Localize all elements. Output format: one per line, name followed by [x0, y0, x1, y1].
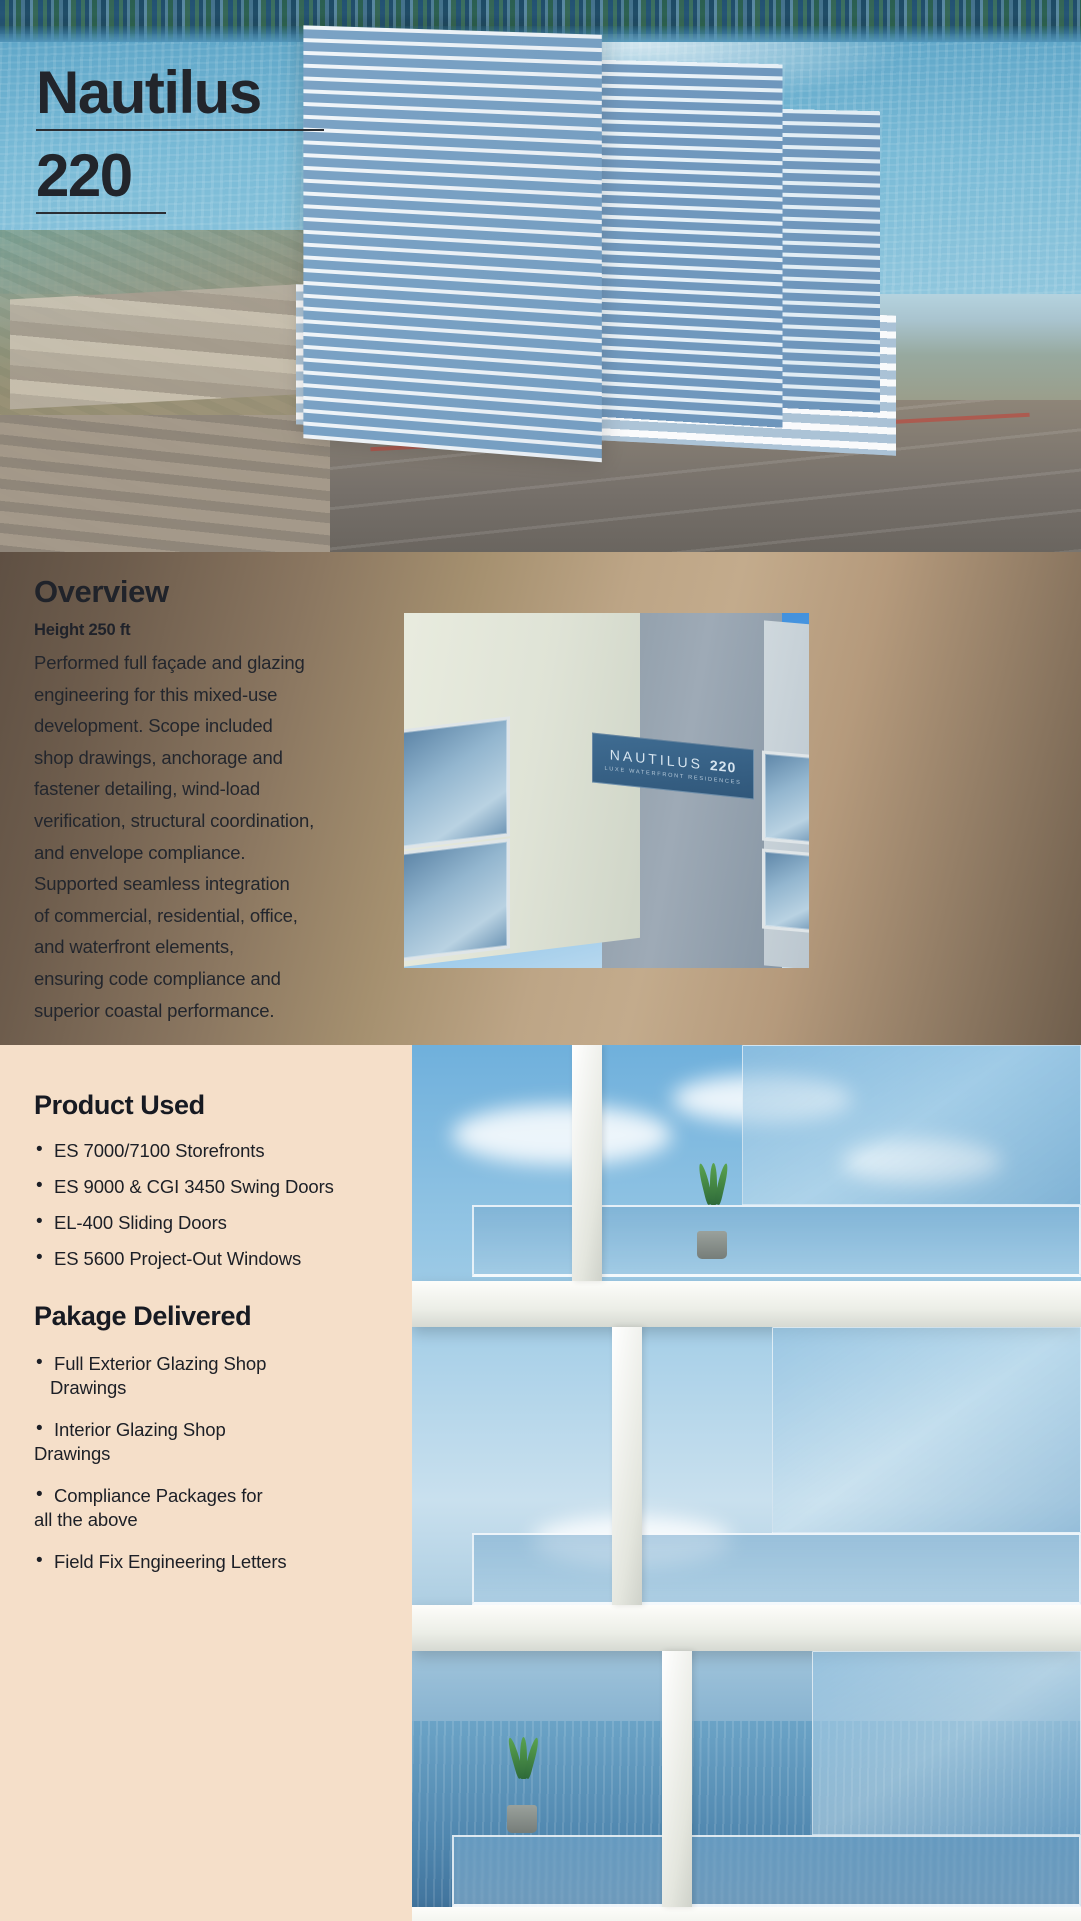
product-used-heading: Product Used: [34, 1090, 390, 1121]
glass-panel: [742, 1045, 1081, 1205]
glass-railing: [452, 1835, 1081, 1907]
list-item: EL-400 Sliding Doors: [34, 1211, 390, 1235]
list-item: Full Exterior Glazing Shop Drawings: [34, 1352, 390, 1400]
balcony-photo: [412, 1045, 1081, 1921]
facade-window: [404, 838, 510, 962]
list-item: ES 9000 & CGI 3450 Swing Doors: [34, 1175, 390, 1199]
hero-title: Nautilus 220: [36, 62, 376, 214]
list-item-line-1: Interior Glazing Shop: [54, 1419, 226, 1440]
glass-panel: [812, 1651, 1081, 1835]
hero-section: Nautilus 220: [0, 0, 1081, 552]
package-delivered-heading: Pakage Delivered: [34, 1301, 390, 1332]
facade-window: [762, 750, 809, 845]
facade-window: [762, 848, 809, 933]
balcony-slab: [412, 1605, 1081, 1651]
overview-height-label: Height 250 ft: [34, 621, 384, 640]
balcony-slab: [412, 1907, 1081, 1921]
list-item: Field Fix Engineering Letters: [34, 1550, 390, 1574]
glass-railing: [472, 1533, 1081, 1605]
overview-body-text: Performed full façade and glazing engine…: [34, 647, 384, 1026]
list-item-line-2: Drawings: [34, 1442, 390, 1466]
glass-railing: [472, 1205, 1081, 1277]
plant-pot: [697, 1231, 727, 1259]
overview-text-block: Overview Height 250 ft Performed full fa…: [34, 574, 384, 1026]
package-delivered-list: Full Exterior Glazing Shop Drawings Inte…: [34, 1352, 390, 1574]
balcony-column: [662, 1651, 692, 1907]
product-used-list: ES 7000/7100 Storefronts ES 9000 & CGI 3…: [34, 1139, 390, 1271]
balcony-slab: [412, 1281, 1081, 1327]
overview-heading: Overview: [34, 574, 384, 610]
plant-pot: [507, 1805, 537, 1833]
list-item: Interior Glazing Shop Drawings: [34, 1418, 390, 1466]
cloud-shape: [452, 1105, 672, 1165]
list-item: Compliance Packages for all the above: [34, 1484, 390, 1532]
balcony-column: [572, 1045, 602, 1281]
products-and-package-section: Product Used ES 7000/7100 Storefronts ES…: [0, 1045, 1081, 1921]
glass-panel: [772, 1327, 1081, 1533]
overview-building-photo: NAUTILUS 220 LUXE WATERFRONT RESIDENCES: [404, 613, 809, 968]
hero-title-line-2: 220: [36, 145, 166, 214]
list-item: ES 7000/7100 Storefronts: [34, 1139, 390, 1163]
list-item-line-1: Compliance Packages for: [54, 1485, 263, 1506]
sign-number-text: 220: [710, 757, 736, 776]
secondary-tower: [593, 60, 782, 428]
list-item-line-2: all the above: [34, 1508, 390, 1532]
background-tower: [770, 109, 880, 413]
balcony-column: [612, 1327, 642, 1605]
project-case-study-page: Nautilus 220 Overview Height 250 ft Perf…: [0, 0, 1081, 1921]
list-item-line-1: Full Exterior Glazing Shop: [54, 1353, 266, 1374]
hero-title-line-1: Nautilus: [36, 62, 324, 131]
list-item: ES 5600 Project-Out Windows: [34, 1247, 390, 1271]
products-text-column: Product Used ES 7000/7100 Storefronts ES…: [0, 1045, 412, 1921]
list-item-line-2: Drawings: [50, 1376, 390, 1400]
facade-window: [404, 716, 510, 850]
